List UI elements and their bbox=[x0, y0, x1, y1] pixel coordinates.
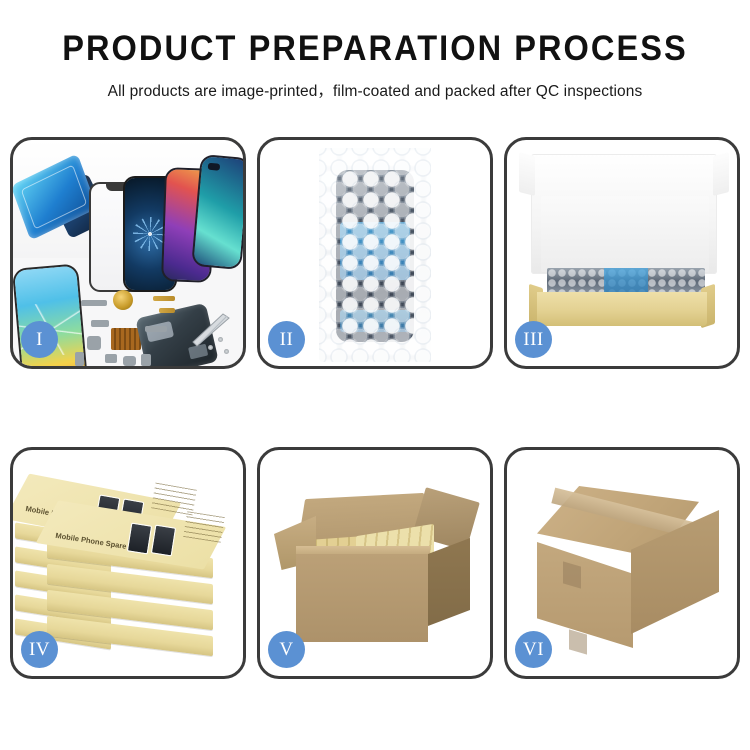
bubble-texture bbox=[547, 268, 705, 294]
phone-display-teal-icon bbox=[193, 156, 243, 268]
spare-part-icon bbox=[91, 320, 109, 327]
tweezers-icon bbox=[189, 308, 235, 348]
camera-module-icon bbox=[208, 163, 221, 171]
chip-part-icon bbox=[111, 328, 141, 350]
kraft-box-front-icon bbox=[537, 292, 707, 326]
process-step-panel-4[interactable]: Mobile Phone Spare Parts Mobile Phone Sp… bbox=[10, 447, 246, 679]
process-step-panel-1[interactable]: I bbox=[10, 137, 246, 369]
process-step-panel-6[interactable]: VI bbox=[504, 447, 740, 679]
spare-part-icon bbox=[145, 326, 167, 332]
carton-side-icon bbox=[428, 538, 470, 626]
flex-cable-icon bbox=[159, 308, 175, 313]
carton-front-face bbox=[537, 542, 633, 648]
spare-part-icon bbox=[75, 352, 84, 366]
process-step-grid: I II III bbox=[10, 137, 740, 679]
packed-screens-icon bbox=[547, 268, 705, 294]
page-title: PRODUCT PREPARATION PROCESS bbox=[26, 30, 724, 69]
screw-icon bbox=[224, 349, 229, 354]
bubble-wrap-bag-icon bbox=[319, 148, 431, 362]
page-header: PRODUCT PREPARATION PROCESS All products… bbox=[0, 0, 750, 101]
process-step-panel-2[interactable]: II bbox=[257, 137, 493, 369]
spare-part-icon bbox=[81, 300, 107, 306]
foam-insert-icon bbox=[541, 196, 709, 272]
spare-part-icon bbox=[87, 336, 101, 350]
bubble-texture bbox=[319, 148, 431, 362]
carton-seam bbox=[569, 629, 587, 654]
flex-cable-icon bbox=[153, 296, 175, 301]
step-number-badge: VI bbox=[515, 631, 552, 668]
process-step-panel-3[interactable]: III bbox=[504, 137, 740, 369]
process-step-panel-5[interactable]: V bbox=[257, 447, 493, 679]
screw-icon bbox=[208, 345, 213, 350]
step-number-badge: III bbox=[515, 321, 552, 358]
page-subtitle: All products are image-printed，film-coat… bbox=[0, 79, 750, 101]
carton-front-icon bbox=[296, 554, 428, 642]
step-number-badge: V bbox=[268, 631, 305, 668]
screw-icon bbox=[218, 337, 223, 342]
step-number-badge: I bbox=[21, 321, 58, 358]
spare-part-icon bbox=[105, 354, 117, 363]
spare-part-icon bbox=[123, 356, 136, 366]
phone-label-thumbnail bbox=[127, 523, 152, 555]
phone-label-thumbnail bbox=[151, 525, 176, 557]
spare-part-icon bbox=[141, 354, 151, 366]
step-number-badge: II bbox=[268, 321, 305, 358]
step-number-badge: IV bbox=[21, 631, 58, 668]
coil-part-icon bbox=[113, 290, 133, 310]
